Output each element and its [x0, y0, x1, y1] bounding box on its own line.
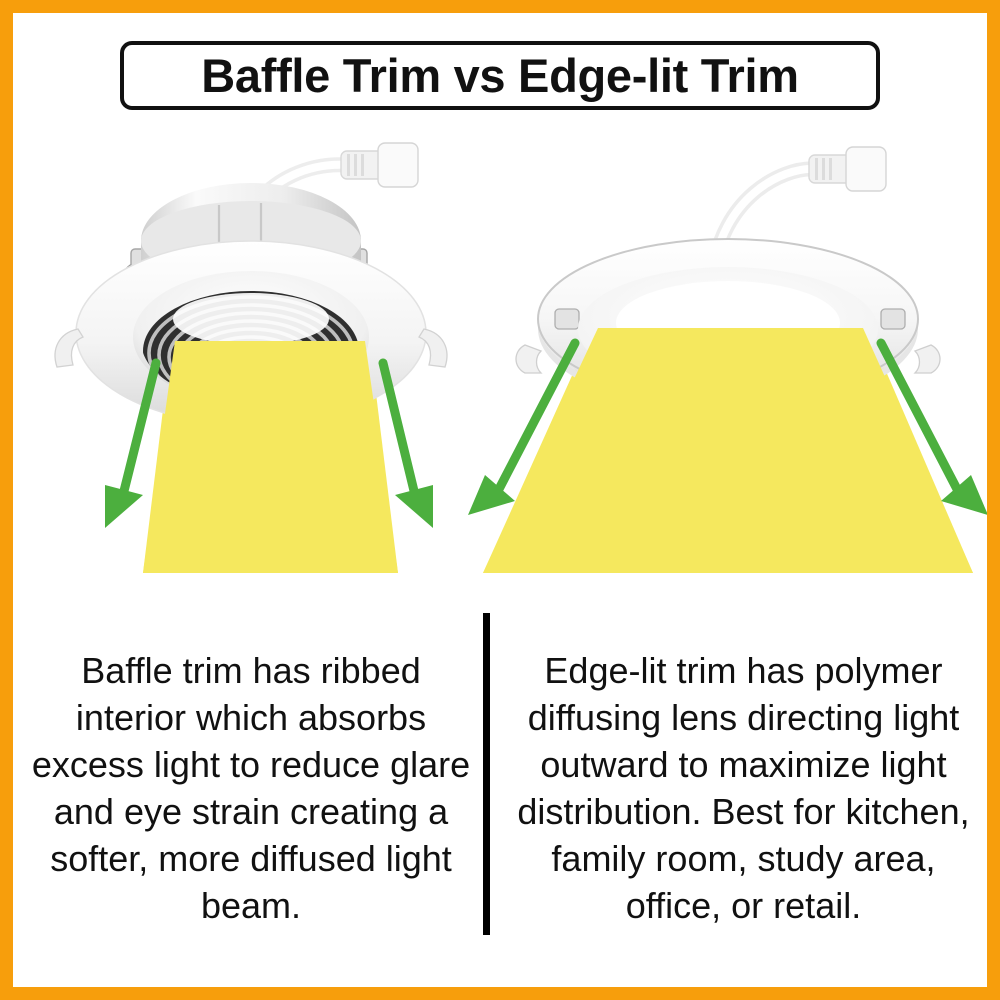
title-box: Baffle Trim vs Edge-lit Trim [120, 41, 880, 110]
baffle-trim-description: Baffle trim has ribbed interior which ab… [27, 647, 475, 929]
edge-lit-trim-description: Edge-lit trim has polymer diffusing lens… [500, 647, 987, 929]
edge-lit-trim-panel [463, 123, 987, 603]
illustration-area [13, 123, 987, 603]
edgelit-beam-arrows [463, 123, 987, 603]
page-title: Baffle Trim vs Edge-lit Trim [201, 52, 799, 99]
vertical-divider [483, 613, 490, 935]
baffle-trim-panel [23, 123, 473, 603]
beam-arrow-left [123, 363, 156, 495]
beam-arrow-left [498, 343, 575, 491]
infographic-page: Baffle Trim vs Edge-lit Trim [0, 0, 1000, 1000]
baffle-beam-arrows [23, 123, 473, 603]
